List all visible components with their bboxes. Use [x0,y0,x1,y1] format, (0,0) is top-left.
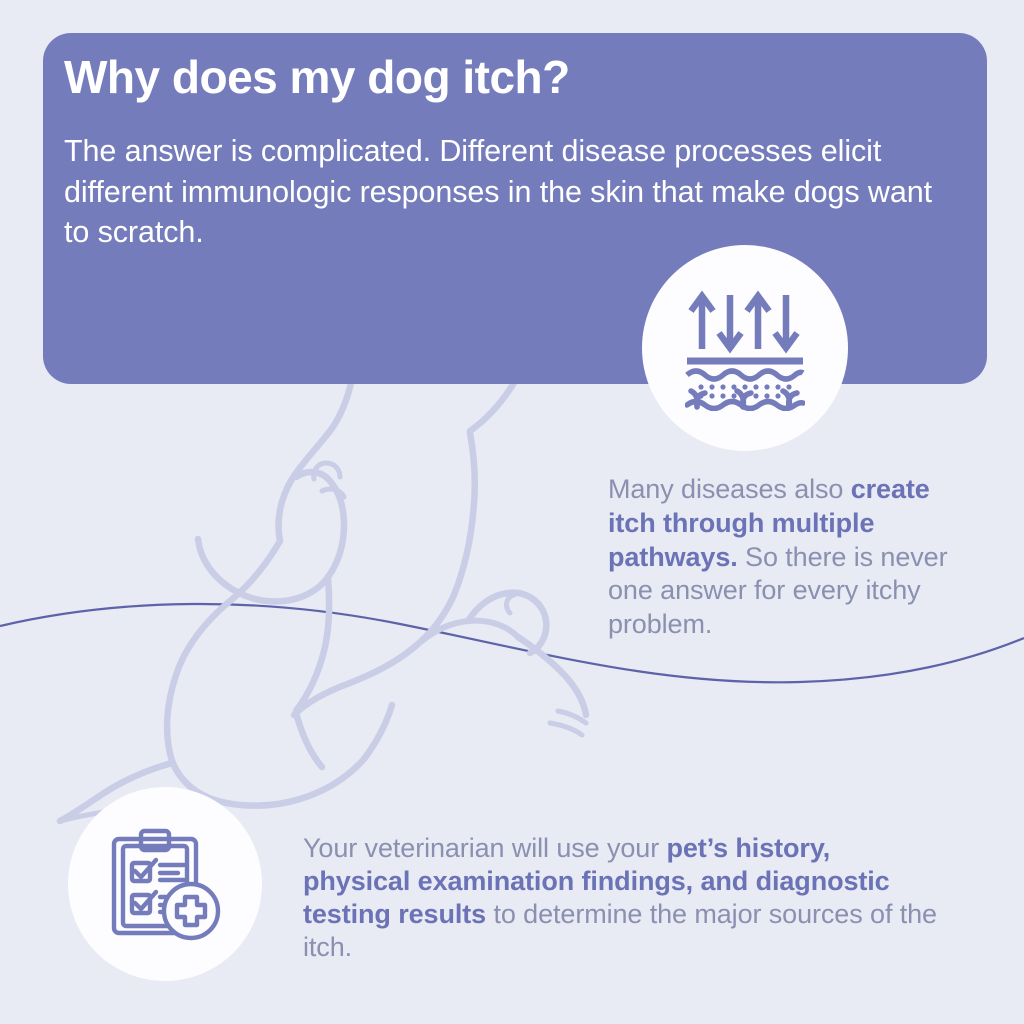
clipboard-icon-circle [68,787,262,981]
text-run-regular: Many diseases also [608,474,851,504]
skin-icon-circle [642,245,848,451]
veterinary-diagnosis-text: Your veterinarian will use your pet’s hi… [303,832,943,964]
skin-layers-arrows-icon [685,285,805,411]
clipboard-checklist-medical-icon [106,825,224,943]
skin-pathways-text: Many diseases also create itch through m… [608,473,948,642]
text-run-regular: Your veterinarian will use your [303,833,667,863]
infographic-canvas: Why does my dog itch? The answer is comp… [0,0,1024,1024]
header-description: The answer is complicated. Different dis… [64,131,954,253]
page-title: Why does my dog itch? [64,52,570,103]
